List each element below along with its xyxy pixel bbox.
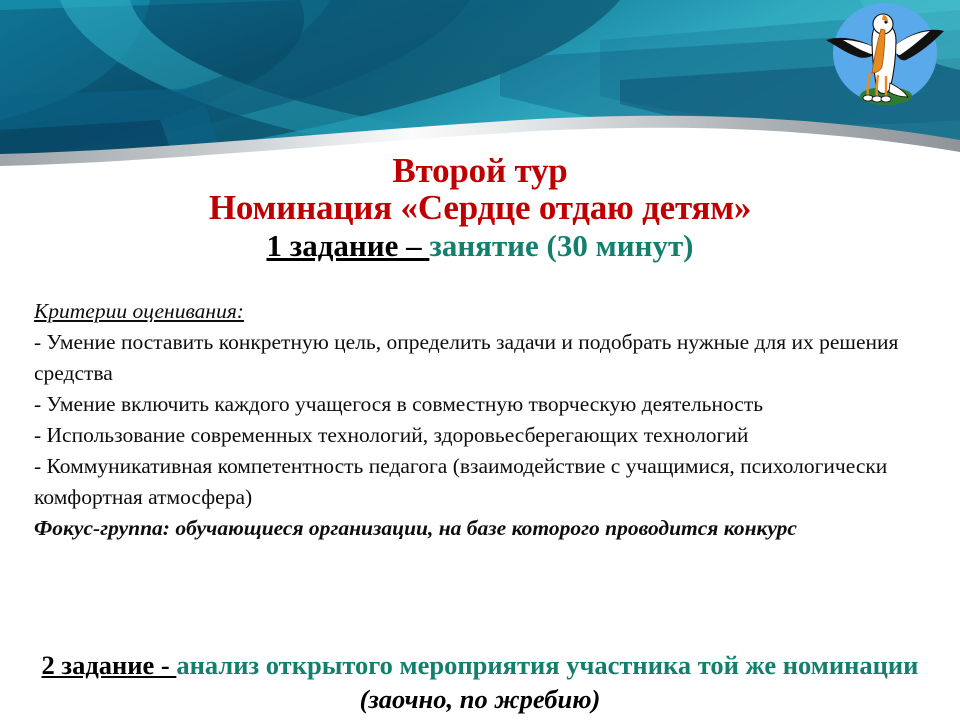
criteria-item: - Коммуникативная компетентность педагог… [34, 451, 934, 513]
task-2-note: (заочно, по жребию) [360, 684, 601, 714]
criteria-item: - Умение поставить конкретную цель, опре… [34, 327, 934, 389]
task-1-heading: 1 задание – занятие (30 минут) [0, 229, 960, 264]
criteria-section: Критерии оценивания: - Умение поставить … [34, 296, 934, 544]
pelican-logo [824, 3, 946, 107]
slide-title-nomination: Номинация «Сердце отдаю детям» [0, 189, 960, 226]
title-block: Второй тур Номинация «Сердце отдаю детям… [0, 152, 960, 264]
task-2-label: 2 задание - [42, 650, 177, 680]
criteria-item: - Умение включить каждого учащегося в со… [34, 389, 934, 420]
presentation-slide: Второй тур Номинация «Сердце отдаю детям… [0, 0, 960, 720]
task-1-label: 1 задание – [266, 228, 429, 263]
criteria-item: - Использование современных технологий, … [34, 420, 934, 451]
task-1-value: занятие (30 минут) [429, 228, 693, 263]
criteria-heading: Критерии оценивания: [34, 296, 934, 327]
focus-group-note: Фокус-группа: обучающиеся организации, н… [34, 513, 934, 544]
task-2-value: анализ открытого мероприятия участника т… [176, 650, 918, 680]
task-2-section: 2 задание - анализ открытого мероприятия… [0, 648, 960, 716]
slide-title-round: Второй тур [0, 152, 960, 189]
